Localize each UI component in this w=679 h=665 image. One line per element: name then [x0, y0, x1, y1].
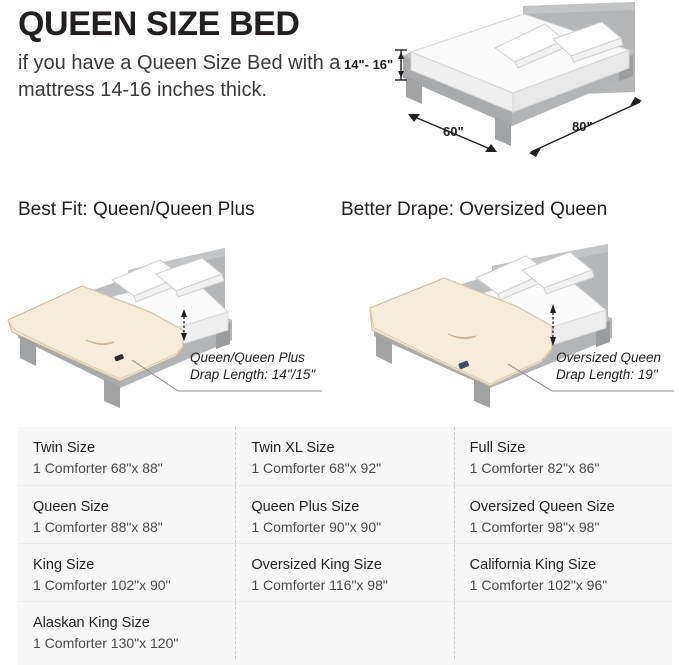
annotation-line-1: Queen/Queen Plus — [190, 350, 305, 365]
size-name: Queen Plus Size — [251, 497, 453, 517]
size-name: Oversized King Size — [251, 555, 453, 575]
table-cell-full: Full Size 1 Comforter 82"x 86" — [454, 427, 672, 485]
table-row: Twin Size 1 Comforter 68"x 88" Twin XL S… — [18, 427, 672, 485]
size-name: King Size — [33, 555, 235, 575]
size-name: Oversized Queen Size — [470, 497, 672, 517]
size-dimensions: 1 Comforter 102"x 90" — [33, 575, 235, 596]
section-heading-best-fit: Best Fit: Queen/Queen Plus — [18, 198, 255, 222]
width-label: 60" — [443, 124, 464, 139]
size-name: Queen Size — [33, 497, 235, 517]
table-row: King Size 1 Comforter 102"x 90" Oversize… — [18, 543, 672, 601]
hero-bed-svg: 14"- 16" 60" 80" — [340, 0, 679, 180]
size-dimensions: 1 Comforter 68"x 92" — [251, 458, 453, 479]
length-arrowhead-left — [529, 148, 541, 157]
table-cell-queen: Queen Size 1 Comforter 88"x 88" — [18, 486, 235, 543]
table-cell-queen-plus: Queen Plus Size 1 Comforter 90"x 90" — [235, 486, 453, 543]
size-dimensions: 1 Comforter 98"x 98" — [470, 517, 672, 538]
size-dimensions: 1 Comforter 130"x 120" — [33, 633, 235, 654]
table-cell-california-king: California King Size 1 Comforter 102"x 9… — [454, 544, 672, 601]
best-fit-bed-illustration: Queen/Queen Plus Drap Length: 14"/15" — [0, 238, 340, 420]
better-drape-bed-svg: Oversized Queen Drap Length: 19" — [340, 238, 679, 420]
hero-bed-diagram: 14"- 16" 60" 80" — [340, 0, 679, 180]
table-row: Alaskan King Size 1 Comforter 130"x 120" — [18, 601, 672, 659]
best-fit-bed-svg: Queen/Queen Plus Drap Length: 14"/15" — [0, 238, 340, 420]
table-cell-oversized-king: Oversized King Size 1 Comforter 116"x 98… — [235, 544, 453, 601]
table-cell-empty — [454, 602, 672, 659]
length-label: 80" — [572, 119, 593, 134]
size-dimensions: 1 Comforter 102"x 96" — [470, 575, 672, 596]
page-subtitle: if you have a Queen Size Bed with a matt… — [18, 50, 348, 104]
annotation-line-2: Drap Length: 14"/15" — [190, 367, 316, 382]
size-dimensions: 1 Comforter 82"x 86" — [470, 458, 672, 479]
table-cell-alaskan-king: Alaskan King Size 1 Comforter 130"x 120" — [18, 602, 235, 659]
size-dimensions: 1 Comforter 88"x 88" — [33, 517, 235, 538]
better-drape-bed-illustration: Oversized Queen Drap Length: 19" — [340, 238, 679, 420]
comforter-size-table: Twin Size 1 Comforter 68"x 88" Twin XL S… — [18, 427, 672, 665]
size-dimensions: 1 Comforter 90"x 90" — [251, 517, 453, 538]
annotation-line-2: Drap Length: 19" — [556, 367, 659, 382]
header-block: QUEEN SIZE BED if you have a Queen Size … — [18, 4, 348, 104]
height-label: 14"- 16" — [344, 57, 393, 72]
table-cell-twin-xl: Twin XL Size 1 Comforter 68"x 92" — [235, 427, 453, 485]
size-dimensions: 1 Comforter 116"x 98" — [251, 575, 453, 596]
size-name: Twin Size — [33, 438, 235, 458]
section-heading-better-drape: Better Drape: Oversized Queen — [341, 198, 607, 222]
annotation-line-1: Oversized Queen — [556, 350, 661, 365]
table-cell-oversized-queen: Oversized Queen Size 1 Comforter 98"x 98… — [454, 486, 672, 543]
table-cell-twin: Twin Size 1 Comforter 68"x 88" — [18, 427, 235, 485]
table-cell-king: King Size 1 Comforter 102"x 90" — [18, 544, 235, 601]
size-name: Twin XL Size — [251, 438, 453, 458]
size-name: Alaskan King Size — [33, 613, 235, 633]
size-name: Full Size — [470, 438, 672, 458]
table-row: Queen Size 1 Comforter 88"x 88" Queen Pl… — [18, 485, 672, 543]
size-name: California King Size — [470, 555, 672, 575]
length-arrowhead-right — [630, 97, 642, 106]
page-title: QUEEN SIZE BED — [18, 4, 348, 44]
size-dimensions: 1 Comforter 68"x 88" — [33, 458, 235, 479]
table-cell-empty — [235, 602, 453, 659]
